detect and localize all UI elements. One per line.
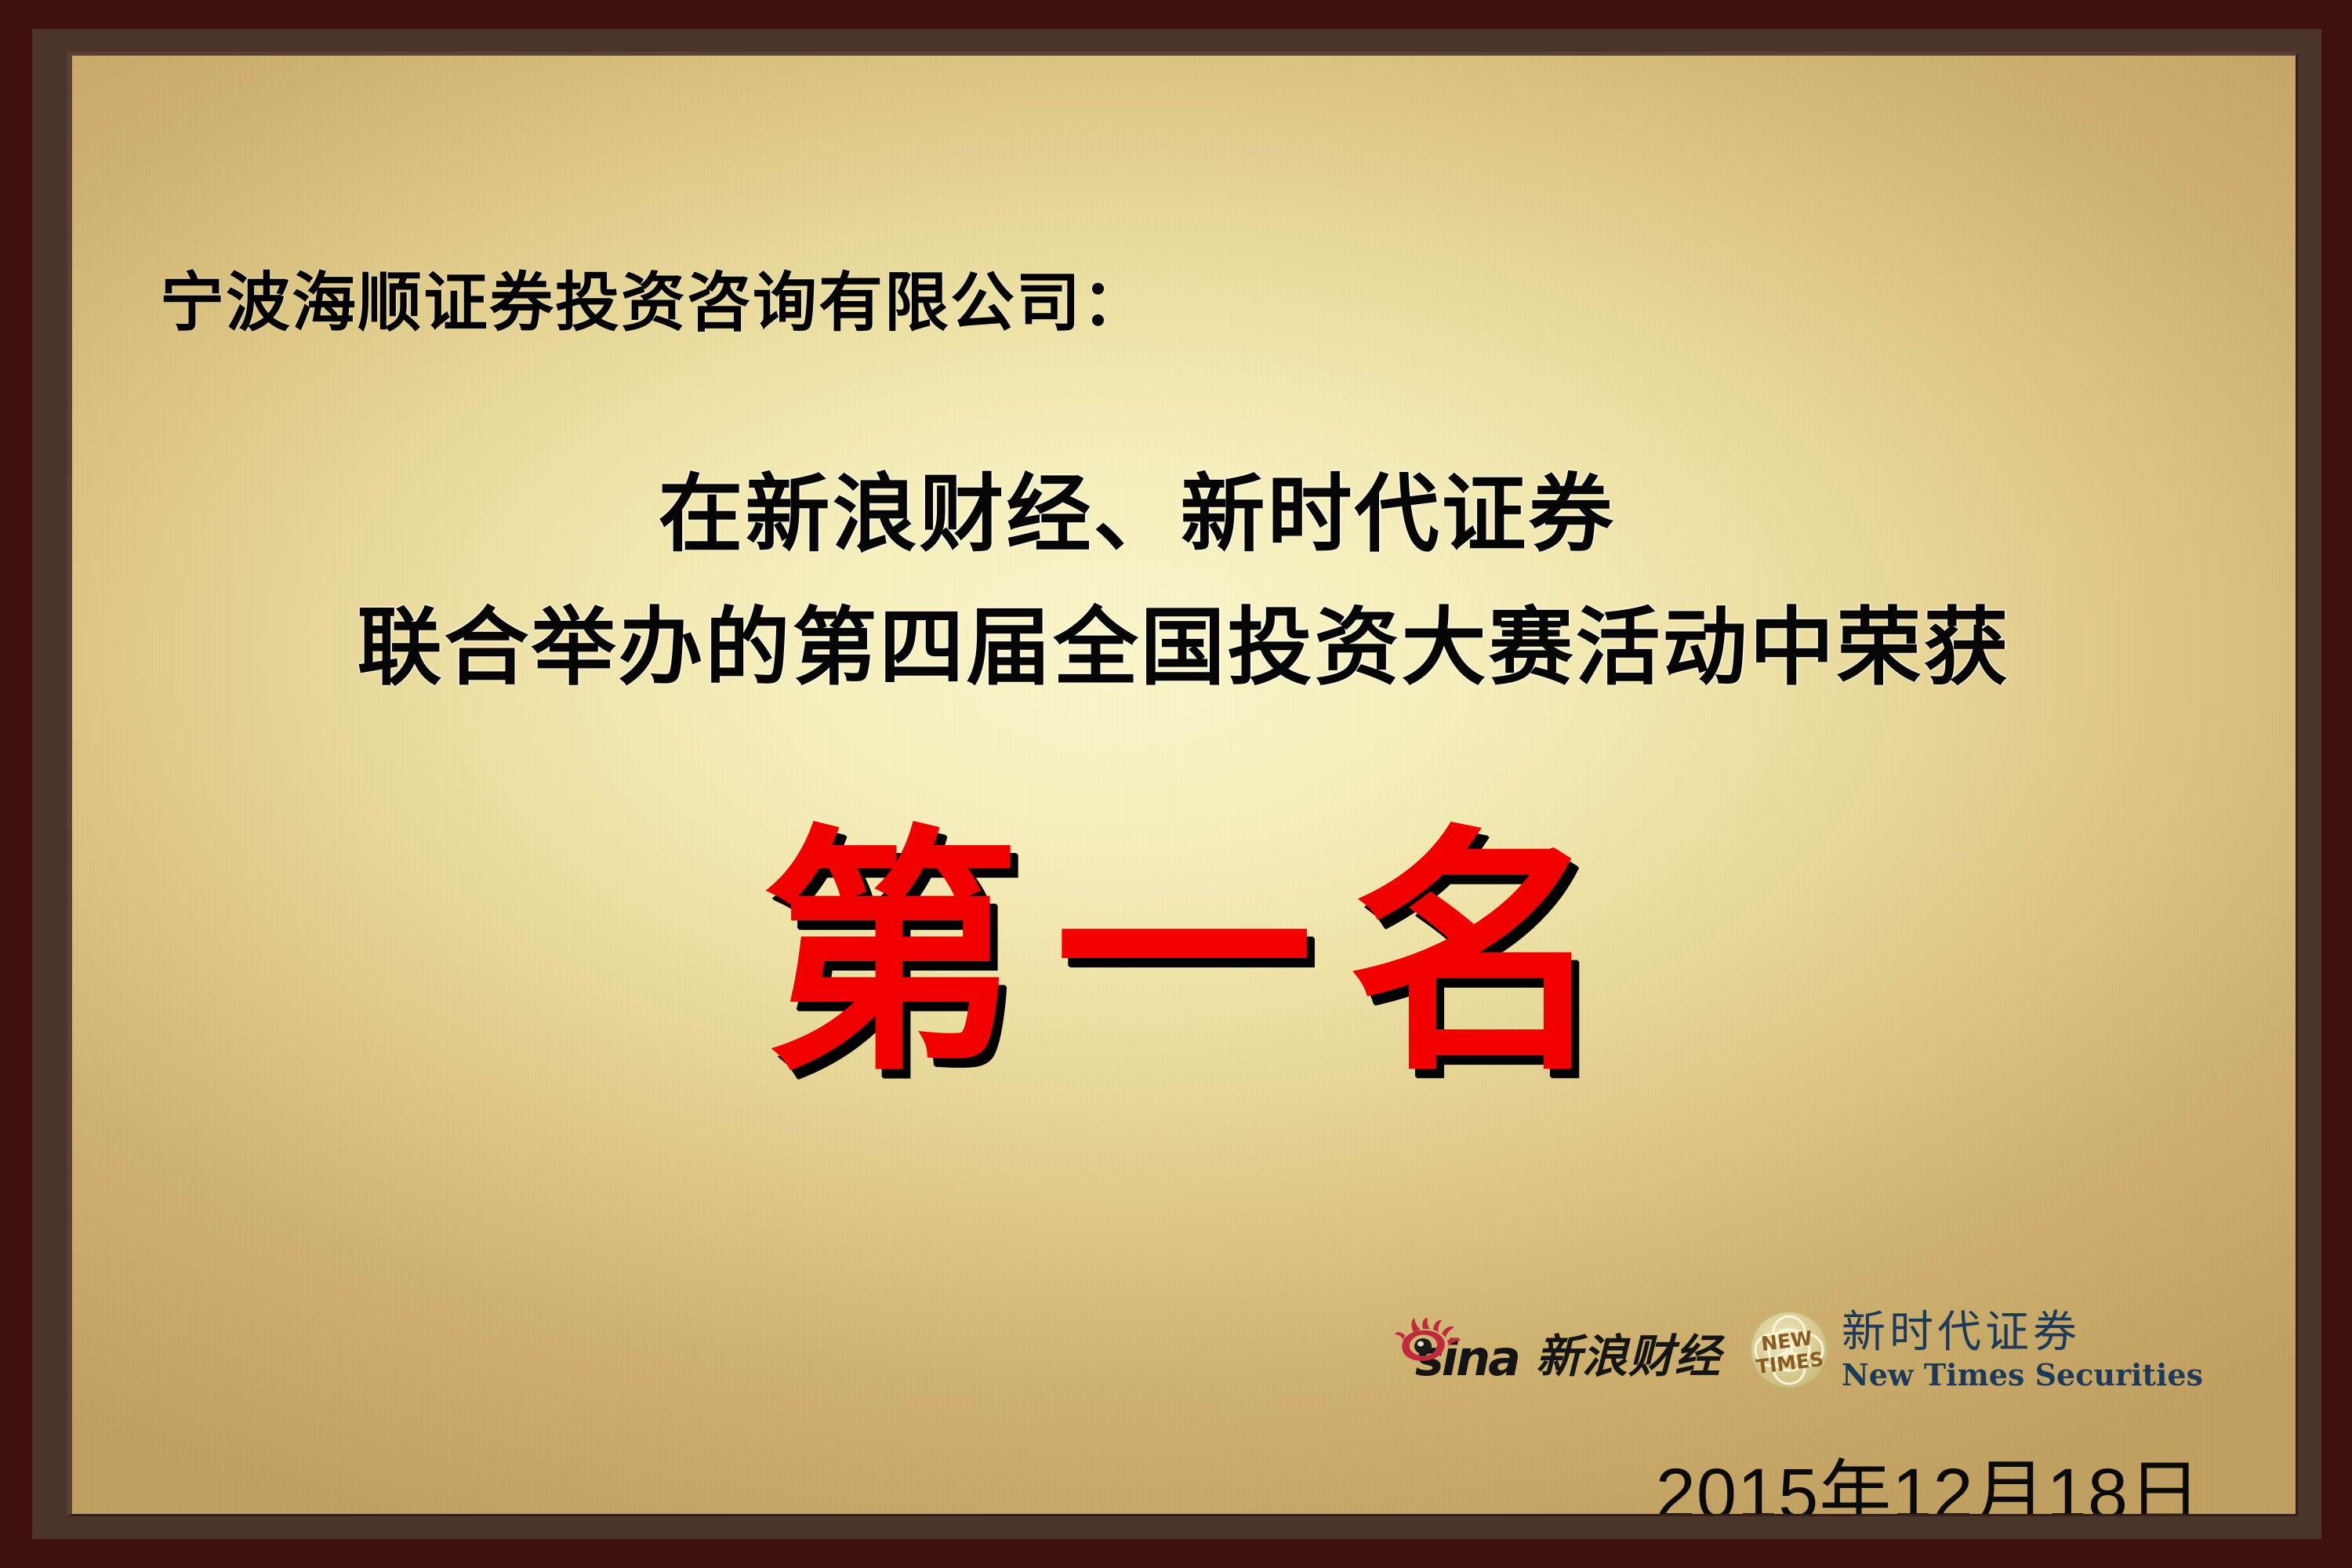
recipient-company-name: 宁波海顺证券投资咨询有限公司：	[160, 250, 1148, 343]
award-rank-title: 第一名	[727, 824, 1641, 1083]
new-times-chinese-name: 新时代证券	[1842, 1310, 2203, 1354]
plaque-gold-panel: 宁波海顺证券投资咨询有限公司： 在新浪财经、新时代证券 联合举办的第四届全国投资…	[72, 56, 2296, 1514]
award-plaque: 宁波海顺证券投资咨询有限公司： 在新浪财经、新时代证券 联合举办的第四届全国投资…	[0, 0, 2352, 1568]
award-body-line-1: 在新浪财经、新时代证券	[72, 448, 2296, 581]
plaque-frame-bevel: 宁波海顺证券投资咨询有限公司： 在新浪财经、新时代证券 联合举办的第四届全国投资…	[67, 52, 2298, 1516]
plaque-frame-inner-band: 宁波海顺证券投资咨询有限公司： 在新浪财经、新时代证券 联合举办的第四届全国投资…	[32, 29, 2321, 1539]
new-times-english-name: New Times Securities	[1842, 1360, 2203, 1390]
award-body-line-2: 联合举办的第四届全国投资大赛活动中荣获	[72, 581, 2296, 714]
new-times-emblem-icon: NEW TIMES	[1748, 1308, 1831, 1392]
sponsor-logo-row: sina 新浪财经	[1395, 1308, 2203, 1392]
award-body-text: 在新浪财经、新时代证券 联合举办的第四届全国投资大赛活动中荣获	[72, 448, 2296, 714]
award-date: 2015年12月18日	[1656, 1436, 2201, 1514]
sina-eye-icon	[1395, 1318, 1470, 1382]
new-times-securities-logo: NEW TIMES 新时代证券 New Times Securities	[1748, 1308, 2203, 1392]
sina-finance-logo: sina 新浪财经	[1395, 1314, 1721, 1387]
award-rank-container: 第一名	[72, 824, 2296, 1083]
new-times-text-block: 新时代证券 New Times Securities	[1842, 1310, 2203, 1390]
sina-chinese-name: 新浪财经	[1536, 1319, 1721, 1385]
